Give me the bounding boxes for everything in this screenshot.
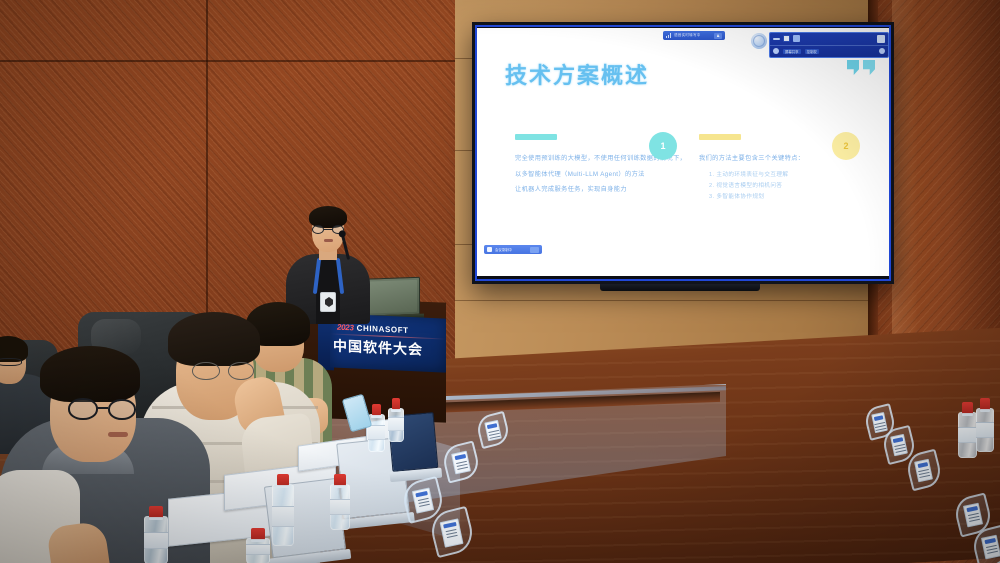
banner-year: 2023 (337, 323, 354, 333)
water-bottle (958, 402, 977, 458)
meeting-window-bar[interactable]: 屏幕共享 控制权 (769, 32, 889, 58)
recording-status-text: 会议录制中 (495, 247, 527, 252)
list-item: 3. 多智能体协作规划 (709, 192, 875, 203)
conference-room-scene: 技术方案概述 语音实时转写中 屏幕共享 (0, 0, 1000, 563)
presenter-mouth (324, 239, 333, 242)
water-bottle (330, 474, 350, 530)
water-bottle (144, 506, 168, 563)
restore-icon[interactable] (783, 35, 790, 42)
volume-icon[interactable] (879, 48, 885, 54)
name-card-stand (974, 528, 1000, 563)
left-accent-bar (515, 134, 557, 140)
name-card-stand (432, 510, 472, 554)
presentation-display[interactable]: 技术方案概述 语音实时转写中 屏幕共享 (472, 22, 894, 284)
toolbar-status-text: 语音实时转写中 (674, 33, 711, 38)
left-paragraph: 以多智能体代理（Multi-LLM Agent）的方法 (515, 170, 687, 181)
left-paragraph: 让机器人完成服务任务，实现自身能力 (515, 185, 687, 196)
left-column-badge: 1 (649, 132, 677, 160)
glasses-icon (68, 398, 136, 420)
minimize-icon[interactable] (773, 38, 780, 40)
audience-mouth (108, 432, 128, 437)
record-icon (487, 247, 492, 252)
window-bar-right-text: 控制权 (805, 49, 819, 54)
quote-mark-icon (847, 60, 859, 75)
window-bar-left-text: 屏幕共享 (783, 49, 801, 54)
slide-surface[interactable]: 技术方案概述 语音实时转写中 屏幕共享 (477, 28, 889, 276)
audience-hair (40, 346, 140, 402)
name-card-stand (908, 452, 940, 488)
water-bottle (246, 528, 270, 563)
wall-panel-seam-vertical (206, 0, 208, 330)
display-stand (600, 284, 760, 291)
list-item: 2. 视觉语言模型的相机问答 (709, 181, 875, 192)
quote-decoration (847, 60, 875, 75)
slide-title: 技术方案概述 (505, 58, 649, 90)
banner-chinese-name: 中国软件大会 (333, 336, 423, 360)
globe-watermark-icon (751, 33, 767, 49)
water-bottle (368, 404, 385, 452)
microphone-icon[interactable] (773, 48, 779, 54)
water-bottle (388, 398, 404, 442)
screen-share-toolbar[interactable]: 语音实时转写中 (663, 31, 725, 40)
right-accent-bar (699, 134, 741, 140)
expand-icon[interactable] (530, 247, 539, 253)
share-icon[interactable] (714, 33, 722, 39)
more-options-icon[interactable] (877, 35, 885, 43)
banner-english-name: CHINASOFT (357, 324, 409, 335)
wall-panel-seam-horizontal (0, 60, 460, 62)
close-icon[interactable] (793, 35, 800, 42)
right-feature-list: 1. 主动的环境表征与交互理解 2. 视觉语言模型的相机问答 3. 多智能体协作… (699, 170, 875, 204)
audience-member (0, 470, 114, 563)
recording-status-badge[interactable]: 会议录制中 (484, 245, 542, 254)
signal-bars-icon (666, 33, 671, 38)
water-bottle (272, 474, 294, 546)
name-card-stand (444, 444, 478, 480)
list-item: 1. 主动的环境表征与交互理解 (709, 170, 875, 181)
right-column-badge: 2 (832, 132, 860, 160)
quote-mark-icon (863, 60, 875, 75)
name-card-stand (478, 414, 508, 446)
water-bottle (976, 398, 994, 452)
